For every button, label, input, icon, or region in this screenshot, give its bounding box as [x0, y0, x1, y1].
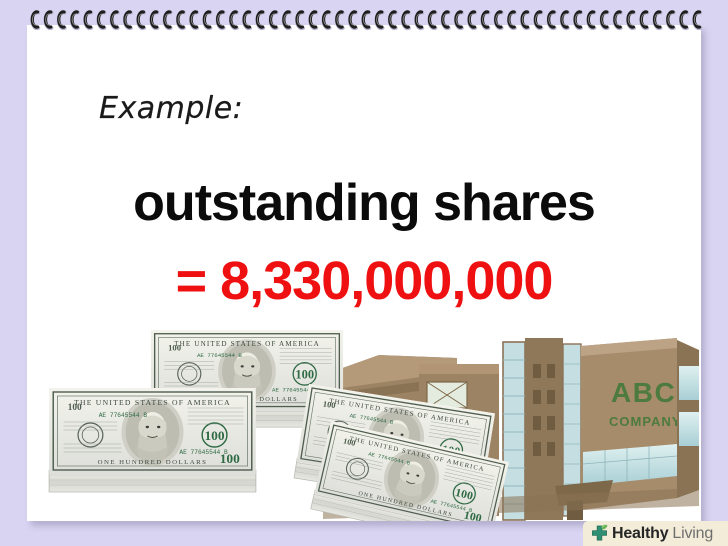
example-label: Example: [99, 91, 243, 126]
brand-badge[interactable]: Healthy Living [583, 521, 728, 546]
notepad-sheet: Example: outstanding shares = 8,330,000,… [27, 25, 701, 521]
illustration-cash-and-building: 100 THE UNITED STATES OF AMERICA ONE HUN… [27, 320, 701, 521]
building-sign-secondary: COMPANY [609, 414, 681, 429]
brand-word-primary: Healthy [612, 525, 668, 543]
green-cross-leaf-icon [589, 523, 610, 544]
brand-word-secondary: Living [672, 525, 713, 543]
building-sign-primary: ABC [611, 377, 676, 408]
headline-value: = 8,330,000,000 [27, 250, 701, 312]
cash-stack-front [49, 388, 256, 492]
slide-canvas: Example: outstanding shares = 8,330,000,… [0, 0, 728, 546]
headline-term: outstanding shares [27, 173, 701, 233]
